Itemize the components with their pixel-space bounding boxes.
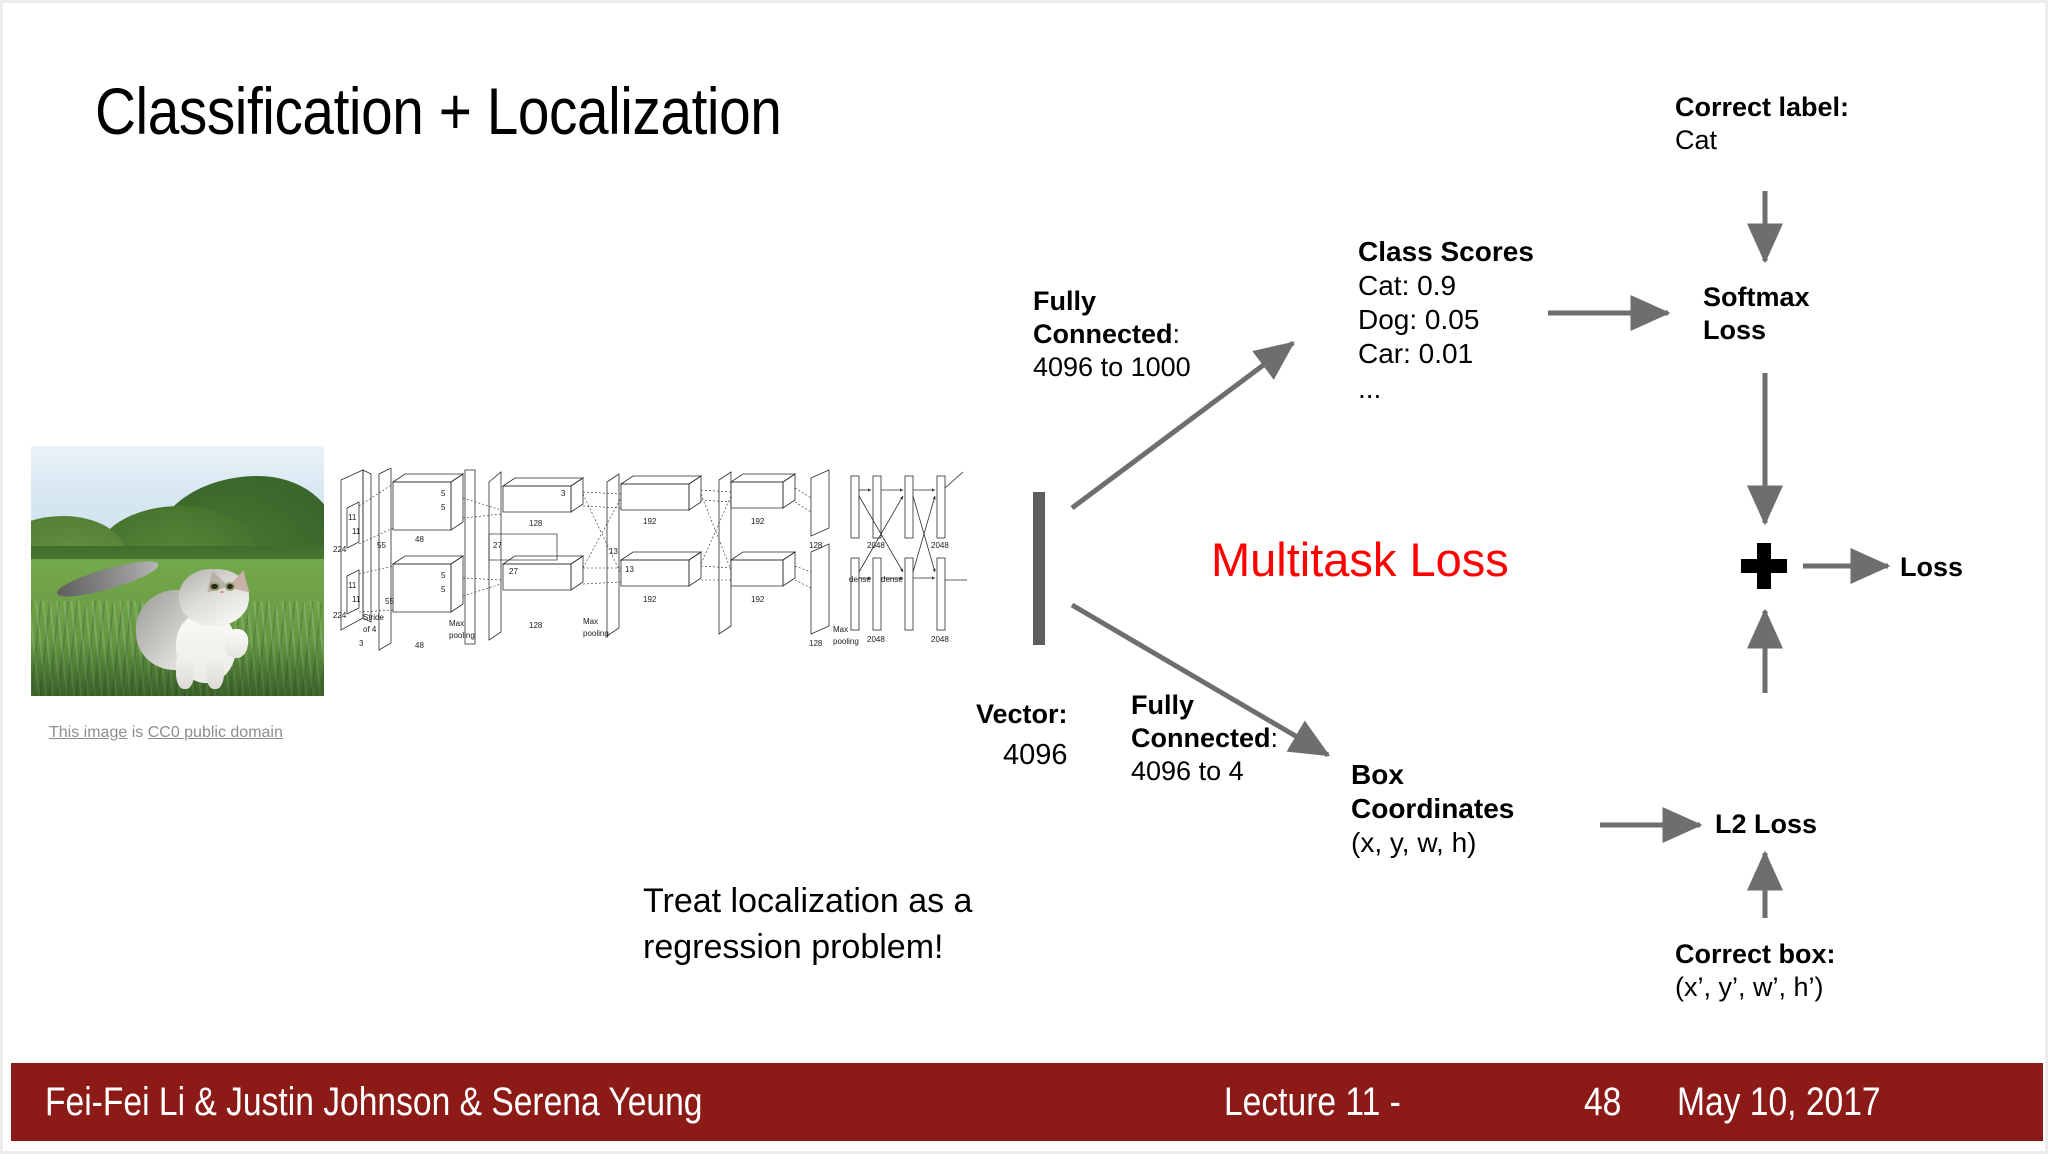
kitten-head	[179, 569, 249, 626]
diagram-label-k5c: 5	[441, 571, 446, 580]
footer-slide-number: 48	[1584, 1080, 1621, 1125]
box-coordinates-heading-line2: Coordinates	[1351, 792, 1514, 826]
kitten-eye-right	[227, 584, 233, 589]
diagram-label-input-depth: 3	[359, 639, 364, 648]
correct-label-value: Cat	[1675, 124, 1849, 157]
correct-label-block: Correct label: Cat	[1675, 91, 1849, 157]
diagram-label-k3: 3	[561, 489, 566, 498]
diagram-label-kernel-11a: 11	[348, 513, 357, 522]
footer-lecture: Lecture 11 -	[1224, 1080, 1401, 1125]
alexnet-architecture-diagram: 224 224 3 11 11 11 11 Stride of 4 55 55 …	[333, 468, 983, 658]
box-coordinates-heading-line1: Box	[1351, 758, 1514, 792]
diagram-label-stride: Stride	[363, 613, 384, 622]
class-score-row: Dog: 0.05	[1358, 303, 1534, 337]
fc1000-detail: 4096 to 1000	[1033, 351, 1191, 384]
diagram-label-maxpool2: Max	[583, 617, 598, 626]
fc1000-label-line1: Fully	[1033, 286, 1096, 316]
diagram-label-k5b: 5	[441, 503, 446, 512]
diagram-label-kernel-11d: 11	[352, 595, 361, 604]
fc4-label-line1: Fully	[1131, 690, 1194, 720]
diagram-label-maxpool1: Max	[449, 619, 464, 628]
diagram-label-input-size2: 224	[333, 611, 347, 620]
diagram-label-l1a: 55	[377, 541, 386, 550]
diagram-label-l1-depth-a: 48	[415, 535, 424, 544]
correct-box-value: (x’, y’, w’, h’)	[1675, 971, 1836, 1004]
regression-caption: Treat localization as a regression probl…	[643, 879, 972, 971]
diagram-label-l3a: 13	[609, 547, 618, 556]
fc1000-label-line2: Connected	[1033, 319, 1173, 349]
diagram-label-dense2: dense	[881, 575, 903, 584]
diagram-label-maxpool3b: pooling	[833, 637, 859, 646]
fc1000-colon: :	[1173, 319, 1181, 349]
regression-caption-line1: Treat localization as a	[643, 879, 972, 925]
footer-authors: Fei-Fei Li & Justin Johnson & Serena Yeu…	[45, 1080, 702, 1125]
footer-date: May 10, 2017	[1677, 1080, 1881, 1125]
softmax-loss-block: Softmax Loss	[1703, 281, 1810, 347]
attribution-link-image[interactable]: This image	[49, 724, 127, 741]
correct-box-heading: Correct box:	[1675, 938, 1836, 971]
cat-photo	[31, 446, 324, 696]
slide-footer: Fei-Fei Li & Justin Johnson & Serena Yeu…	[11, 1063, 2043, 1141]
softmax-loss-line1: Softmax	[1703, 281, 1810, 314]
diagram-label-fc-b: 2048	[931, 541, 949, 550]
diagram-label-l3-depth-b: 192	[643, 595, 657, 604]
class-scores-heading: Class Scores	[1358, 235, 1534, 269]
diagram-label-l1-depth-b: 48	[415, 641, 424, 650]
diagram-label-l2-depth-b: 128	[529, 621, 543, 630]
box-coordinates-block: Box Coordinates (x, y, w, h)	[1351, 758, 1514, 860]
kitten-leg-left	[176, 655, 194, 689]
diagram-label-kernel-11c: 11	[348, 581, 357, 590]
total-loss-label: Loss	[1900, 551, 1963, 584]
diagram-label-l4-depth-b: 192	[751, 595, 765, 604]
class-scores-block: Class Scores Cat: 0.9 Dog: 0.05 Car: 0.0…	[1358, 235, 1534, 406]
correct-label-heading: Correct label:	[1675, 91, 1849, 124]
diagram-label-l5-depth-b: 128	[809, 639, 823, 648]
fc4-detail: 4096 to 4	[1131, 755, 1278, 788]
diagram-label-l3-depth-a: 192	[643, 517, 657, 526]
fc4-label-line2: Connected	[1131, 723, 1271, 753]
kitten-ear-right	[227, 568, 253, 593]
fully-connected-1000-block: Fully Connected: 4096 to 1000	[1033, 285, 1191, 384]
vector-value: 4096	[1003, 738, 1068, 773]
diagram-label-maxpool2b: pooling	[583, 629, 609, 638]
diagram-label-k5d: 5	[441, 585, 446, 594]
diagram-label-fc-a: 2048	[867, 541, 885, 550]
kitten	[131, 556, 266, 686]
diagram-label-dense1: dense	[849, 575, 871, 584]
box-coordinates-value: (x, y, w, h)	[1351, 826, 1514, 860]
diagram-label-l3b: 13	[625, 565, 634, 574]
kitten-nose	[220, 591, 224, 593]
diagram-label-fc-d: 2048	[931, 635, 949, 644]
diagram-label-maxpool1b: pooling	[449, 631, 475, 640]
attribution-link-license[interactable]: CC0 public domain	[148, 724, 283, 741]
diagram-label-kernel-11b: 11	[352, 527, 361, 536]
fully-connected-4-block: Fully Connected: 4096 to 4	[1131, 689, 1278, 788]
regression-caption-line2: regression problem!	[643, 925, 972, 971]
page-title: Classification + Localization	[95, 71, 781, 152]
diagram-label-l2-depth-a: 128	[529, 519, 543, 528]
diagram-label-l1b: 55	[385, 597, 394, 606]
class-score-ellipsis: ...	[1358, 372, 1534, 406]
vector-label: Vector:	[976, 698, 1068, 731]
diagram-label-l2a: 27	[493, 541, 502, 550]
slide-canvas: Classification + Localization	[0, 0, 2048, 1154]
kitten-eye-left	[211, 584, 217, 589]
diagram-label-l4-depth-a: 192	[751, 517, 765, 526]
class-score-row: Cat: 0.9	[1358, 269, 1534, 303]
plus-icon	[1741, 543, 1787, 589]
diagram-label-k5a: 5	[441, 489, 446, 498]
fc4-colon: :	[1271, 723, 1279, 753]
attribution-middle: is	[127, 724, 147, 741]
diagram-label-stride-of4: of 4	[363, 625, 377, 634]
diagram-label-fc-c: 2048	[867, 635, 885, 644]
diagram-label-input-size: 224	[333, 545, 347, 554]
softmax-loss-line2: Loss	[1703, 314, 1810, 347]
feature-vector-bar	[1033, 492, 1045, 645]
multitask-loss-label: Multitask Loss	[1211, 531, 1509, 588]
diagram-label-l5-depth-a: 128	[809, 541, 823, 550]
l2-loss-label: L2 Loss	[1715, 808, 1817, 841]
kitten-ear-left	[202, 567, 229, 592]
kitten-leg-right	[206, 655, 224, 689]
class-score-row: Car: 0.01	[1358, 337, 1534, 371]
correct-box-block: Correct box: (x’, y’, w’, h’)	[1675, 938, 1836, 1004]
diagram-label-maxpool3: Max	[833, 625, 848, 634]
diagram-label-l2b: 27	[509, 567, 518, 576]
image-attribution[interactable]: This image is CC0 public domain	[49, 724, 283, 742]
